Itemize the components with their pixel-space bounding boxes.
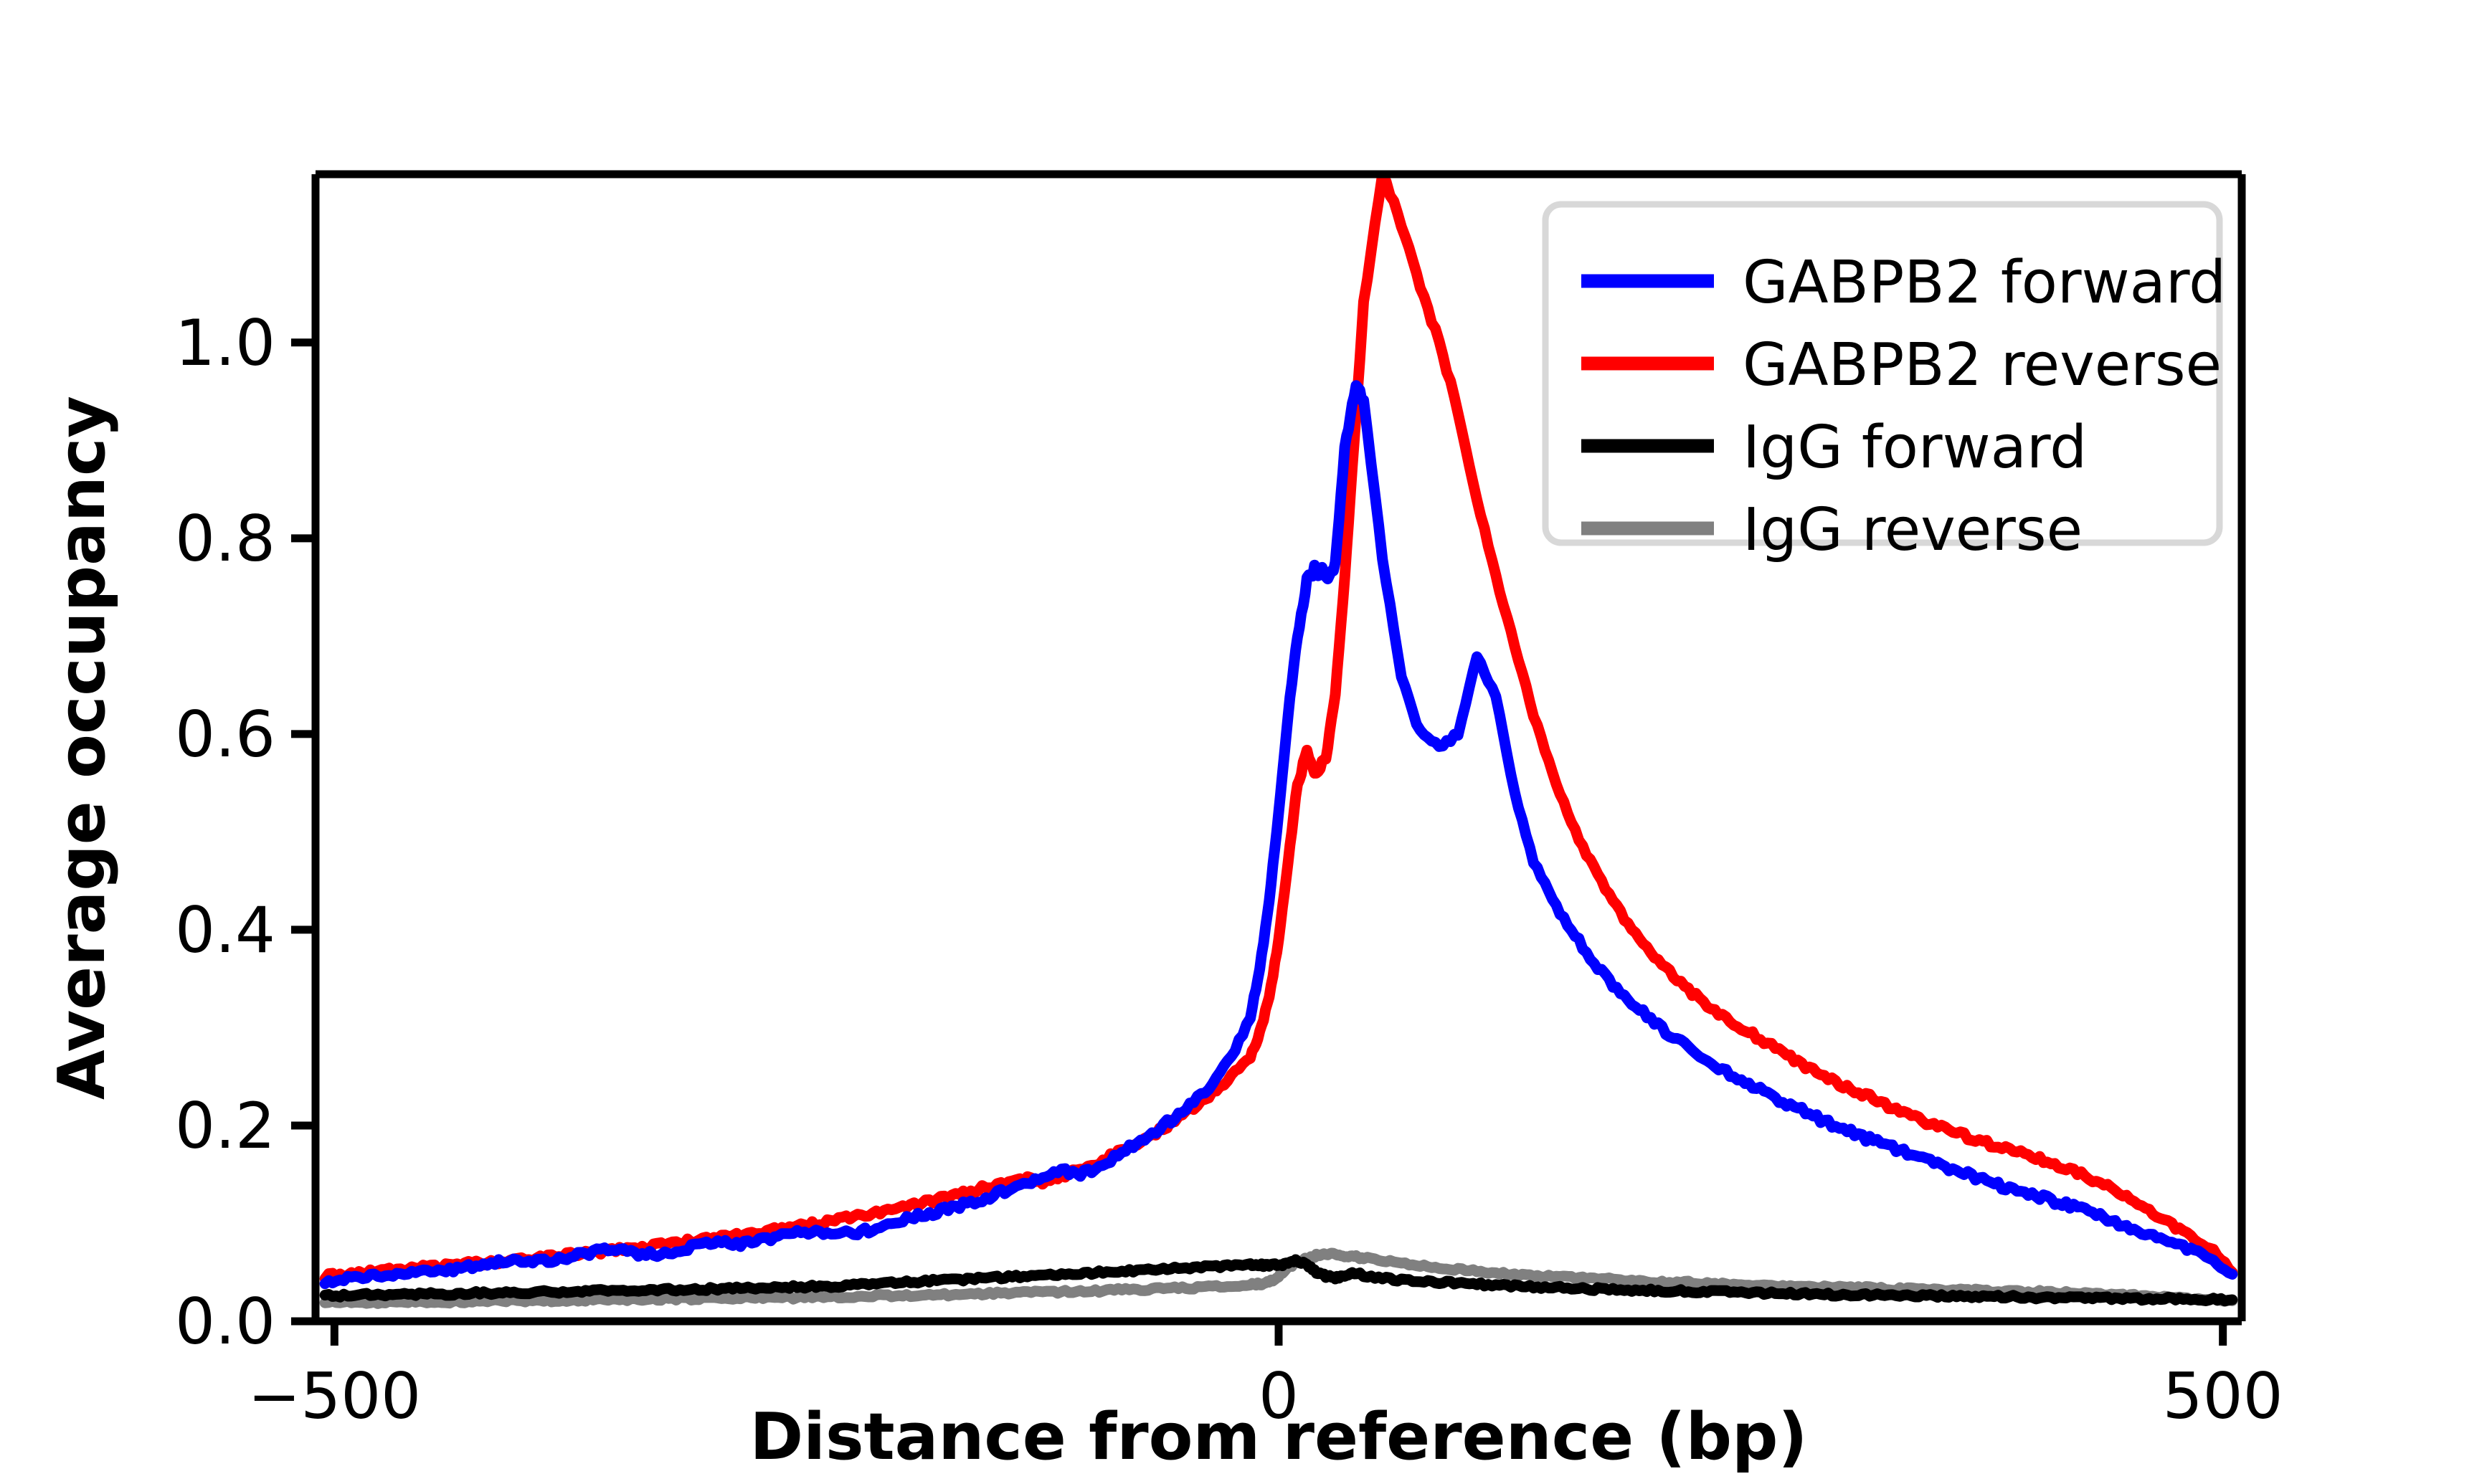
y-tick-label: 1.0 [175,306,275,380]
y-tick-label: 0.8 [175,502,275,576]
figure-canvas: 0.00.20.40.60.81.0−5000500 Distance from… [0,0,2487,1484]
y-tick-label: 0.0 [175,1285,275,1359]
y-tick-label: 0.2 [175,1089,275,1163]
y-tick-label: 0.4 [175,893,275,967]
y-tick-label: 0.6 [175,698,275,771]
x-tick-label: 500 [2163,1359,2283,1433]
legend-label-gabpb2-reverse: GABPB2 reverse [1743,331,2222,399]
legend-label-gabpb2-forward: GABPB2 forward [1743,249,2226,317]
y-axis-title: Average occupancy [44,396,120,1100]
chart-legend: GABPB2 forwardGABPB2 reverseIgG forwardI… [1545,204,2226,564]
x-axis-title: Distance from reference (bp) [749,1399,1807,1475]
x-tick-label: −500 [247,1359,421,1433]
legend-label-igg-forward: IgG forward [1743,414,2087,482]
legend-label-igg-reverse: IgG reverse [1743,496,2083,564]
line-chart: 0.00.20.40.60.81.0−5000500 Distance from… [0,0,2487,1484]
